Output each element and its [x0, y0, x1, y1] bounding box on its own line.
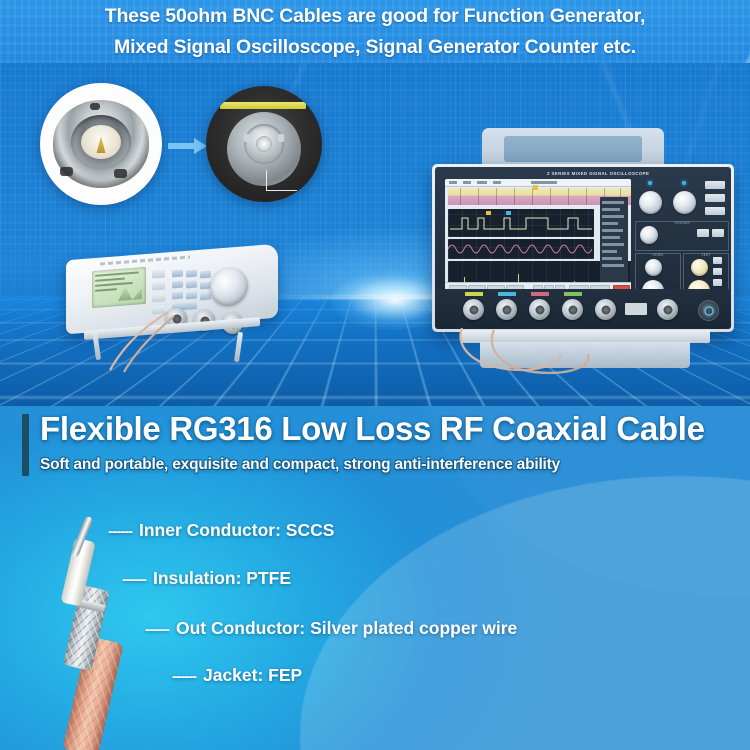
socket-lug — [278, 134, 284, 142]
scope-display — [445, 179, 631, 297]
yellow-panel-strip — [220, 102, 306, 109]
bnc-input-channel-3[interactable] — [529, 299, 550, 320]
header-line-1: These 50ohm BNC Cables are good for Func… — [0, 0, 750, 31]
scope-digital-trace-pane — [448, 209, 594, 237]
fg-keypad-key[interactable] — [172, 292, 183, 300]
trigger-force-button[interactable] — [712, 229, 724, 237]
scope-brand-label: 2 SERIES MIXED SIGNAL OSCILLOSCOPE — [547, 171, 649, 176]
fg-keypad-key[interactable] — [172, 270, 183, 278]
product-marketing-image: These 50ohm BNC Cables are good for Func… — [0, 0, 750, 750]
feature-label: Out Conductor: Silver plated copper wire — [176, 618, 517, 638]
channel-led — [682, 181, 686, 185]
bnc-panel-socket-photo — [206, 86, 322, 202]
fg-keypad-key[interactable] — [200, 271, 211, 279]
scope-analog-trace-pane — [448, 239, 594, 259]
scope-io-row — [435, 289, 731, 329]
feature-label: Inner Conductor: SCCS — [139, 520, 334, 540]
vertical-menu-button[interactable] — [713, 279, 722, 286]
scope-menu-bar[interactable] — [445, 179, 631, 187]
run-stop-button[interactable] — [705, 181, 725, 189]
fg-softkey[interactable] — [152, 269, 165, 278]
channel-led — [648, 181, 652, 185]
channel-1-knob[interactable] — [639, 191, 662, 214]
feature-inner-conductor: ------Inner Conductor: SCCS — [108, 520, 334, 541]
header-banner: These 50ohm BNC Cables are good for Func… — [0, 0, 750, 63]
page-subtitle: Soft and portable, exquisite and compact… — [40, 456, 560, 474]
fg-stand-leg — [234, 332, 243, 362]
leader-dash: ------ — [145, 621, 169, 638]
feature-label: Jacket: FEP — [203, 665, 302, 685]
bnc-bayonet-notch — [60, 167, 73, 176]
bnc-male-connector-photo — [40, 83, 162, 205]
feature-out-conductor: ------Out Conductor: Silver plated coppe… — [145, 618, 517, 639]
power-button[interactable] — [698, 300, 719, 321]
socket-lug — [244, 134, 250, 142]
feature-insulation: ------Insulation: PTFE — [122, 568, 291, 589]
connection-arrow — [168, 137, 208, 155]
header-line-2: Mixed Signal Oscilloscope, Signal Genera… — [0, 31, 750, 62]
vertical-menu-button[interactable] — [713, 268, 722, 275]
channel-4-label — [564, 292, 582, 296]
fg-keypad-key[interactable] — [172, 281, 183, 289]
fg-keypad-key[interactable] — [186, 292, 197, 300]
top-panel: These 50ohm BNC Cables are good for Func… — [0, 0, 750, 406]
fg-keypad-key[interactable] — [200, 293, 211, 301]
bnc-input-channel-1[interactable] — [463, 299, 484, 320]
scope-coax-cables — [442, 324, 622, 384]
scope-front-face: 2 SERIES MIXED SIGNAL OSCILLOSCOPE — [435, 167, 731, 329]
usb-port[interactable] — [625, 303, 647, 315]
page-title: Flexible RG316 Low Loss RF Coaxial Cable — [40, 410, 705, 448]
horizontal-position-knob[interactable] — [645, 259, 662, 276]
fg-keypad-key[interactable] — [186, 270, 197, 278]
feature-jacket: ------Jacket: FEP — [172, 665, 302, 686]
vertical-position-knob[interactable] — [691, 259, 708, 276]
callout-leader-line — [266, 170, 297, 191]
fg-keypad-key[interactable] — [186, 281, 197, 289]
afg-output-port[interactable] — [657, 299, 678, 320]
fg-coax-cables — [86, 302, 196, 372]
channel-2-label — [498, 292, 516, 296]
function-generator — [58, 246, 290, 364]
socket-center-hole — [256, 136, 272, 152]
scope-cursor-marker — [533, 185, 538, 190]
bnc-bayonet-notch — [90, 103, 100, 110]
single-seq-button[interactable] — [705, 194, 725, 202]
bnc-input-channel-2[interactable] — [496, 299, 517, 320]
bnc-bayonet-notch — [114, 169, 127, 178]
trigger-mode-button[interactable] — [697, 229, 709, 237]
channel-3-label — [531, 292, 549, 296]
leader-dash: ------ — [172, 668, 196, 685]
clear-button[interactable] — [705, 207, 725, 215]
channel-2-knob[interactable] — [673, 191, 696, 214]
vertical-menu-button[interactable] — [713, 257, 722, 264]
scope-chassis: 2 SERIES MIXED SIGNAL OSCILLOSCOPE — [432, 164, 734, 332]
channel-1-label — [465, 292, 483, 296]
trigger-level-knob[interactable] — [640, 226, 658, 244]
bnc-input-channel-4[interactable] — [562, 299, 583, 320]
bnc-input-aux[interactable] — [595, 299, 616, 320]
mixed-signal-oscilloscope: 2 SERIES MIXED SIGNAL OSCILLOSCOPE — [424, 128, 742, 372]
leader-dash: ------ — [122, 571, 146, 588]
feature-label: Insulation: PTFE — [153, 568, 291, 588]
fg-waveform — [118, 283, 142, 301]
leader-dash: ------ — [108, 523, 132, 540]
fg-softkey[interactable] — [152, 281, 165, 290]
title-accent-bar — [22, 414, 29, 476]
